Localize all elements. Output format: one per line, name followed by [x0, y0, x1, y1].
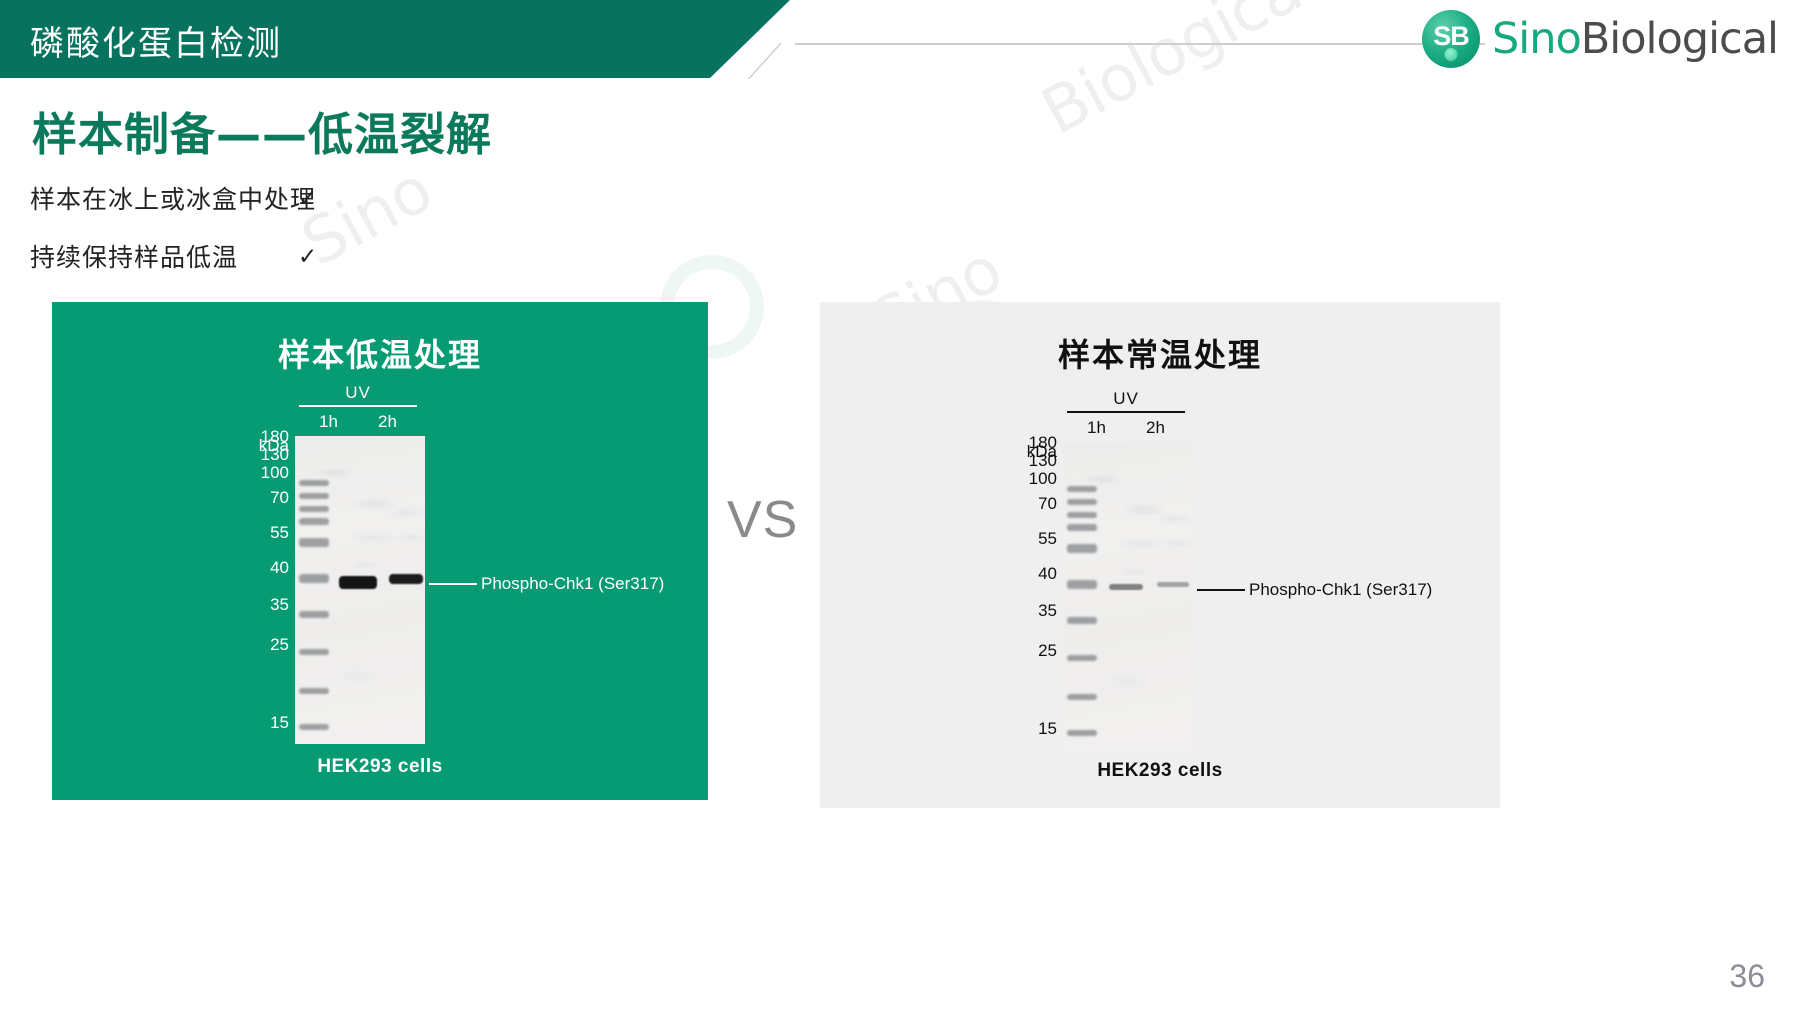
mw-tick-180: 180	[1005, 434, 1057, 451]
mw-tick-180: 180	[237, 428, 289, 445]
lane-label-1h: 1h	[299, 412, 358, 432]
mw-tick-55: 55	[1005, 530, 1057, 547]
mw-tick-100: 100	[237, 464, 289, 481]
bullet-text: 样本在冰上或冰盒中处理	[30, 180, 316, 216]
mw-tick-130: 130	[237, 446, 289, 463]
list-item: ✓ 样本在冰上或冰盒中处理	[30, 180, 316, 216]
versus-label: VS	[727, 490, 798, 550]
mw-tick-40: 40	[1005, 565, 1057, 582]
header-divider-diagonal	[748, 43, 822, 79]
cells-caption-cold: HEK293 cells	[52, 756, 708, 778]
mw-tick-35: 35	[237, 596, 289, 613]
callout-label: Phospho-Chk1 (Ser317)	[1245, 580, 1432, 600]
header-divider	[795, 43, 1485, 45]
lane-label-2h: 2h	[358, 412, 417, 432]
molecular-weight-ticks-cold: 180 130 100 70 55 40 35 25 15	[237, 384, 289, 744]
protein-ladder-roomtemp	[1067, 442, 1101, 750]
logo-wordmark: SinoBiological	[1492, 18, 1778, 61]
mw-tick-15: 15	[1005, 720, 1057, 737]
callout-line	[1197, 589, 1245, 591]
list-item: ✓ 持续保持样品低温	[30, 238, 316, 274]
blot-membrane-roomtemp	[1063, 442, 1193, 750]
logo-badge-text: SB	[1433, 23, 1469, 50]
logo-word-biological: Biological	[1581, 14, 1778, 64]
mw-tick-70: 70	[237, 489, 289, 506]
uv-header-group: UV	[1067, 390, 1185, 413]
check-icon: ✓	[298, 187, 316, 210]
protein-ladder-cold	[299, 436, 333, 744]
band-callout-roomtemp: Phospho-Chk1 (Ser317)	[1197, 580, 1432, 600]
brand-logo: SB SinoBiological	[1422, 10, 1778, 68]
mw-tick-35: 35	[1005, 602, 1057, 619]
mw-tick-130: 130	[1005, 452, 1057, 469]
bullet-text: 持续保持样品低温	[30, 238, 238, 274]
mw-tick-25: 25	[1005, 642, 1057, 659]
panel-heading-roomtemp: 样本常温处理	[820, 330, 1500, 376]
logo-word-sino: Sino	[1492, 14, 1581, 64]
logo-badge-icon: SB	[1422, 10, 1480, 68]
molecular-weight-ticks-roomtemp: 180 130 100 70 55 40 35 25 15	[1005, 390, 1057, 750]
lane-label-group: 1h 2h	[1067, 418, 1185, 438]
uv-label: UV	[1067, 390, 1185, 409]
blot-membrane-cold	[295, 436, 425, 744]
panel-heading-cold: 样本低温处理	[52, 330, 708, 376]
page-number: 36	[1729, 958, 1765, 995]
uv-underline	[1067, 411, 1185, 413]
bullet-list: ✓ 样本在冰上或冰盒中处理 ✓ 持续保持样品低温	[30, 180, 316, 296]
watermark-text: Biological	[1030, 0, 1328, 150]
mw-tick-40: 40	[237, 559, 289, 576]
mw-tick-70: 70	[1005, 495, 1057, 512]
uv-label: UV	[299, 384, 417, 403]
lane-label-2h: 2h	[1126, 418, 1185, 438]
lane-label-group: 1h 2h	[299, 412, 417, 432]
band-callout-cold: Phospho-Chk1 (Ser317)	[429, 574, 664, 594]
mw-tick-25: 25	[237, 636, 289, 653]
uv-header-group: UV	[299, 384, 417, 407]
cells-caption-roomtemp: HEK293 cells	[820, 760, 1500, 782]
mw-tick-100: 100	[1005, 470, 1057, 487]
mw-tick-55: 55	[237, 524, 289, 541]
sample-band-2h	[1157, 582, 1189, 587]
panel-cold-treatment: 样本低温处理 UV 1h 2h kDa 180 130 100 70 55 40…	[52, 302, 708, 800]
callout-label: Phospho-Chk1 (Ser317)	[477, 574, 664, 594]
page-header-title: 磷酸化蛋白检测	[30, 16, 282, 65]
uv-underline	[299, 405, 417, 407]
slide: Biological Sino Biological Biological Si…	[0, 0, 1800, 1013]
check-icon: ✓	[298, 245, 316, 268]
callout-line	[429, 583, 477, 585]
sample-band-1h	[339, 576, 377, 589]
sample-band-2h	[389, 574, 423, 584]
sample-band-1h	[1109, 584, 1143, 590]
lane-label-1h: 1h	[1067, 418, 1126, 438]
page-title: 样本制备——低温裂解	[32, 98, 492, 163]
mw-tick-15: 15	[237, 714, 289, 731]
panel-roomtemp-treatment: 样本常温处理 UV 1h 2h kDa 180 130 100 70 55 40…	[820, 302, 1500, 808]
